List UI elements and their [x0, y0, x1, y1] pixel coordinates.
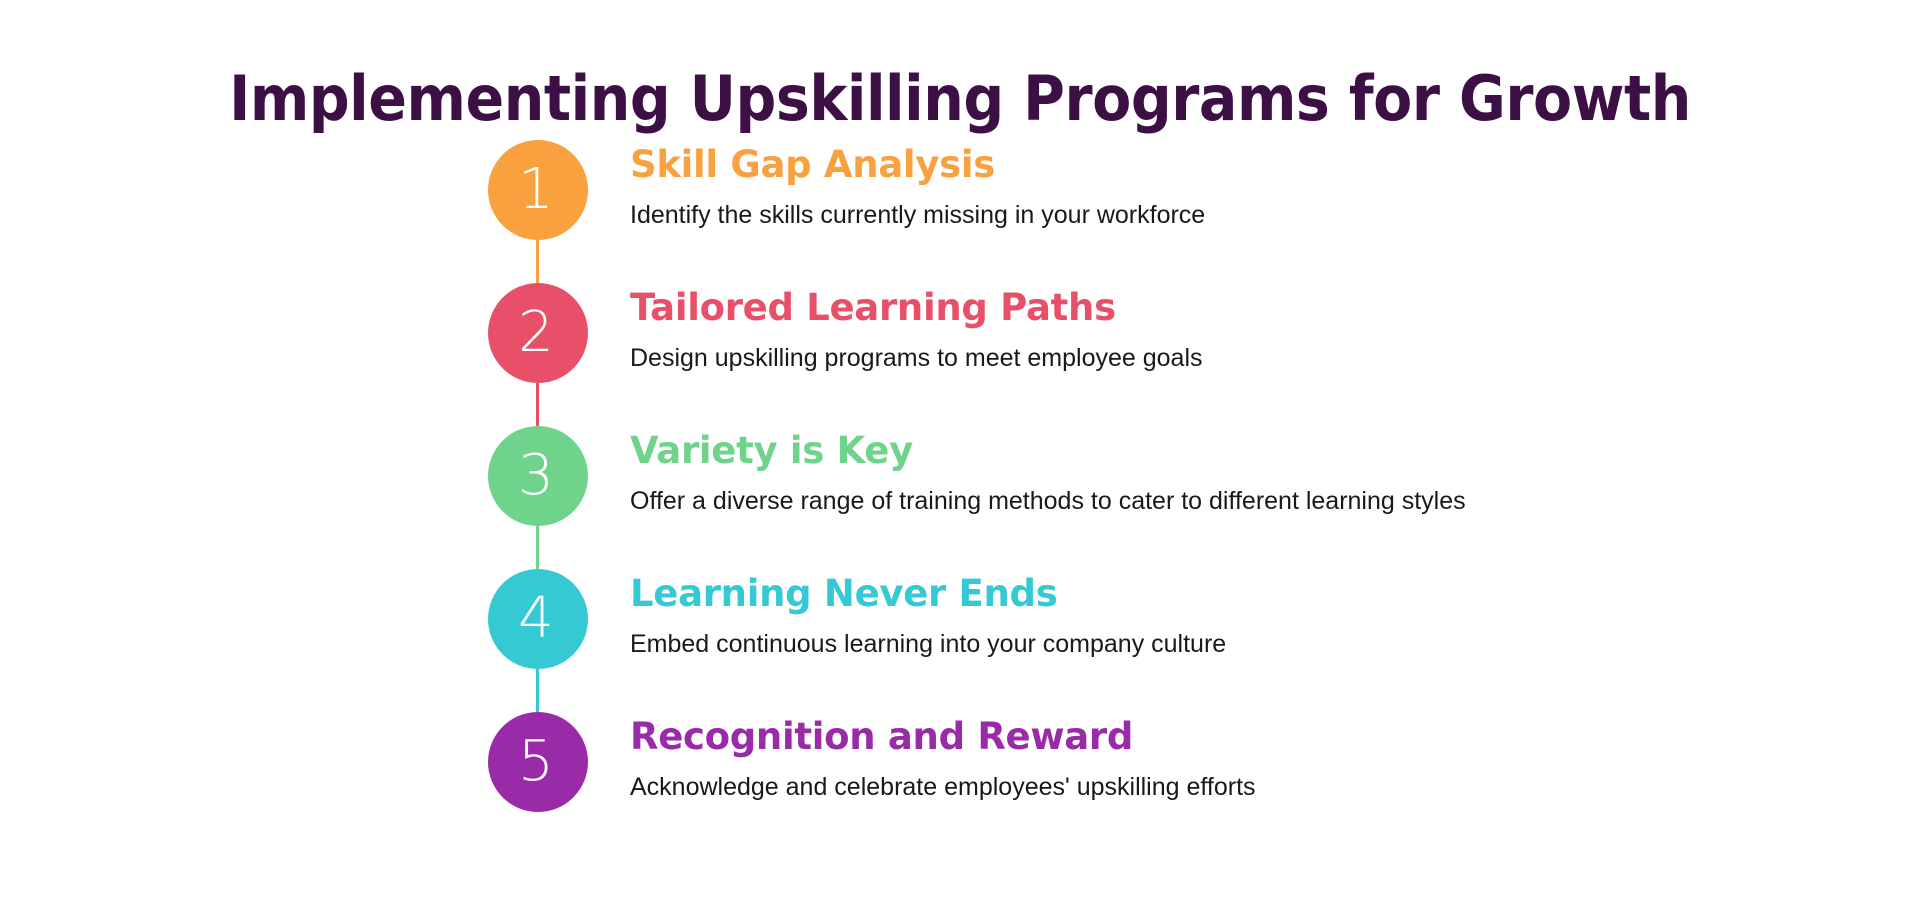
step-heading: Recognition and Reward	[630, 714, 1870, 760]
step-connector-line	[536, 669, 539, 712]
steps-timeline: 1 Skill Gap Analysis Identify the skills…	[0, 140, 1920, 855]
step-number-label: 2	[518, 300, 554, 365]
step-number-badge[interactable]: 3	[488, 426, 588, 526]
step-description: Offer a diverse range of training method…	[630, 484, 1870, 518]
step-connector-line	[536, 240, 539, 283]
step-number-label: 5	[518, 729, 554, 794]
step-description: Design upskilling programs to meet emplo…	[630, 341, 1870, 375]
step-number-label: 3	[518, 443, 554, 508]
step-heading: Skill Gap Analysis	[630, 142, 1870, 188]
page-title: Implementing Upskilling Programs for Gro…	[77, 62, 1843, 136]
step-connector-line	[536, 526, 539, 569]
step-content: Tailored Learning Paths Design upskillin…	[630, 285, 1870, 375]
step-content: Skill Gap Analysis Identify the skills c…	[630, 142, 1870, 232]
timeline-step: 3 Variety is Key Offer a diverse range o…	[0, 426, 1920, 569]
step-content: Learning Never Ends Embed continuous lea…	[630, 571, 1870, 661]
step-description: Identify the skills currently missing in…	[630, 198, 1870, 232]
step-number-label: 1	[518, 157, 554, 222]
step-number-badge[interactable]: 1	[488, 140, 588, 240]
step-heading: Tailored Learning Paths	[630, 285, 1870, 331]
step-connector-line	[536, 383, 539, 426]
timeline-step: 4 Learning Never Ends Embed continuous l…	[0, 569, 1920, 712]
step-number-badge[interactable]: 5	[488, 712, 588, 812]
step-number-label: 4	[518, 586, 554, 651]
infographic-canvas: Implementing Upskilling Programs for Gro…	[0, 0, 1920, 920]
step-content: Recognition and Reward Acknowledge and c…	[630, 714, 1870, 804]
step-content: Variety is Key Offer a diverse range of …	[630, 428, 1870, 518]
timeline-step: 5 Recognition and Reward Acknowledge and…	[0, 712, 1920, 855]
step-heading: Learning Never Ends	[630, 571, 1870, 617]
step-description: Acknowledge and celebrate employees' ups…	[630, 770, 1870, 804]
timeline-step: 1 Skill Gap Analysis Identify the skills…	[0, 140, 1920, 283]
step-number-badge[interactable]: 4	[488, 569, 588, 669]
step-heading: Variety is Key	[630, 428, 1870, 474]
step-description: Embed continuous learning into your comp…	[630, 627, 1870, 661]
timeline-step: 2 Tailored Learning Paths Design upskill…	[0, 283, 1920, 426]
step-number-badge[interactable]: 2	[488, 283, 588, 383]
